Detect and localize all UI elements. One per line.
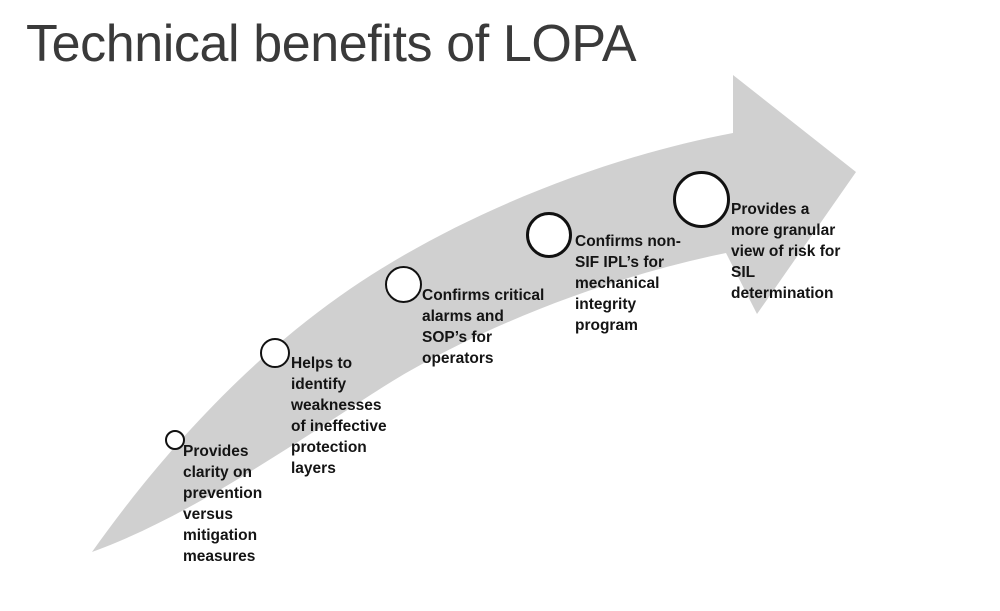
milestone-label-line: clarity on (183, 462, 262, 483)
milestone-label-line: prevention (183, 483, 262, 504)
milestone-label-line: layers (291, 458, 387, 479)
milestone-node-3[interactable] (385, 266, 422, 303)
milestone-label-line: SIL (731, 262, 840, 283)
milestone-label-line: program (575, 315, 681, 336)
milestone-node-5[interactable] (673, 171, 730, 228)
milestone-label-line: mitigation (183, 525, 262, 546)
milestone-label-5: Provides amore granularview of risk forS… (731, 199, 840, 304)
milestone-label-line: integrity (575, 294, 681, 315)
milestone-label-line: operators (422, 348, 544, 369)
milestone-label-4: Confirms non-SIF IPL’s formechanicalinte… (575, 231, 681, 336)
milestone-label-line: weaknesses (291, 395, 387, 416)
milestone-label-1: Providesclarity onpreventionversusmitiga… (183, 441, 262, 567)
milestone-label-line: alarms and (422, 306, 544, 327)
milestone-label-2: Helps toidentifyweaknessesof ineffective… (291, 353, 387, 479)
milestone-label-line: versus (183, 504, 262, 525)
milestone-label-line: Confirms critical (422, 285, 544, 306)
milestone-label-line: protection (291, 437, 387, 458)
milestone-label-line: determination (731, 283, 840, 304)
milestone-label-line: SIF IPL’s for (575, 252, 681, 273)
milestone-label-line: Helps to (291, 353, 387, 374)
milestone-label-line: more granular (731, 220, 840, 241)
milestone-label-3: Confirms criticalalarms andSOP’s foroper… (422, 285, 544, 369)
milestone-node-4[interactable] (526, 212, 572, 258)
milestone-label-line: Provides (183, 441, 262, 462)
milestone-label-line: mechanical (575, 273, 681, 294)
milestone-label-line: Confirms non- (575, 231, 681, 252)
milestone-label-line: measures (183, 546, 262, 567)
milestone-label-line: identify (291, 374, 387, 395)
milestone-node-1[interactable] (165, 430, 185, 450)
slide-canvas: Technical benefits of LOPA Providesclari… (0, 0, 1000, 611)
milestone-label-line: SOP’s for (422, 327, 544, 348)
milestone-node-2[interactable] (260, 338, 290, 368)
milestone-label-line: Provides a (731, 199, 840, 220)
milestone-label-line: of ineffective (291, 416, 387, 437)
milestone-label-line: view of risk for (731, 241, 840, 262)
